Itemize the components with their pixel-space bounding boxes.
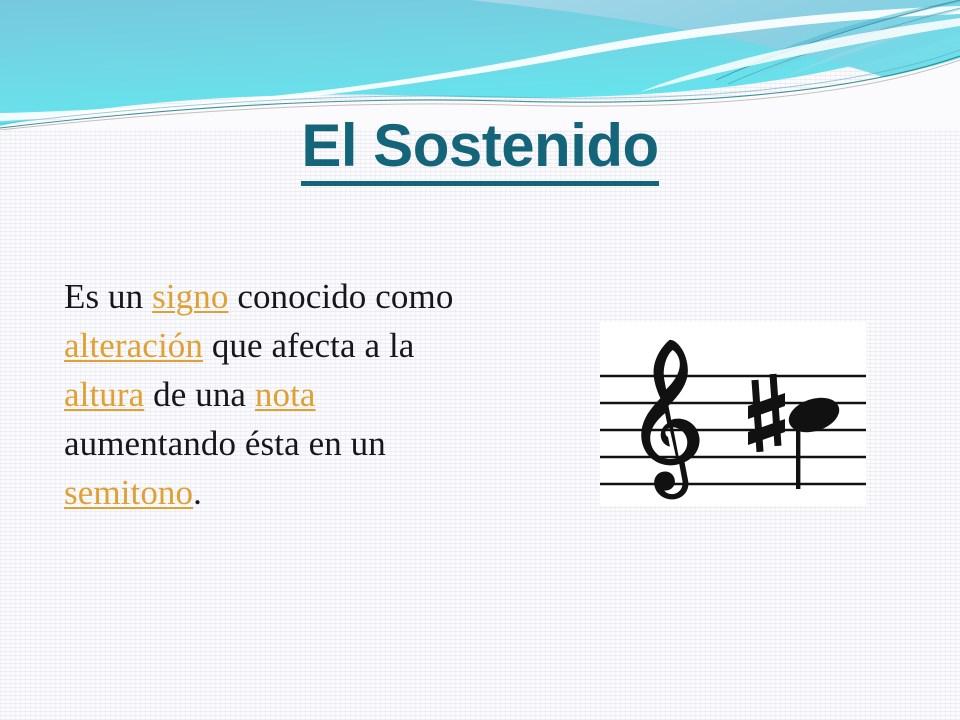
link-signo[interactable]: signo <box>152 277 228 316</box>
page-title-text: El Sostenido <box>301 112 658 186</box>
link-altura[interactable]: altura <box>64 375 144 414</box>
text-run-3: que afecta a la <box>203 326 414 365</box>
header-wave-graphic <box>0 0 960 130</box>
slide-title: El Sostenido <box>0 112 960 186</box>
link-nota[interactable]: nota <box>255 375 316 414</box>
text-run-4: de una <box>144 375 255 414</box>
text-run-5: aumentando ésta en un <box>64 424 386 463</box>
text-run-1: Es un <box>64 277 152 316</box>
music-notation-image <box>600 322 866 506</box>
link-alteracion[interactable]: alteración <box>64 326 203 365</box>
text-run-2: conocido como <box>228 277 453 316</box>
link-semitono[interactable]: semitono <box>64 473 193 512</box>
text-run-6: . <box>193 473 202 512</box>
body-paragraph: Es un signo conocido como alteración que… <box>64 272 494 517</box>
presentation-slide: El Sostenido Es un signo conocido como a… <box>0 0 960 720</box>
